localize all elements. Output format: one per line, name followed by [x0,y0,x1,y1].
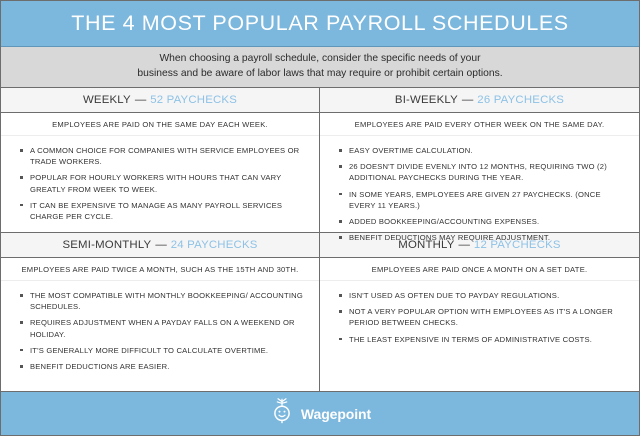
wagepoint-sprout-face-icon [269,397,295,430]
schedule-description-text: EMPLOYEES ARE PAID ONCE A MONTH ON A SET… [372,265,588,274]
schedule-paycheck-count: 24 PAYCHECKS [171,239,258,251]
schedule-name: WEEKLY [83,94,131,106]
schedule-description-weekly: EMPLOYEES ARE PAID ON THE SAME DAY EACH … [1,113,319,136]
list-item: IN SOME YEARS, EMPLOYEES ARE GIVEN 27 PA… [338,189,625,211]
list-item: EASY OVERTIME CALCULATION. [338,145,625,156]
schedule-bullets-semi-monthly: THE MOST COMPATIBLE WITH MONTHLY BOOKKEE… [1,281,319,391]
footer-banner: Wagepoint [1,391,639,435]
subtitle-text: When choosing a payroll schedule, consid… [97,52,542,82]
schedules-grid: WEEKLY — 52 PAYCHECKS EMPLOYEES ARE PAID… [1,88,639,391]
list-item: POPULAR FOR HOURLY WORKERS WITH HOURS TH… [19,172,305,194]
list-item: A COMMON CHOICE FOR COMPANIES WITH SERVI… [19,145,305,167]
schedule-name: BI-WEEKLY [395,94,458,106]
subtitle-banner: When choosing a payroll schedule, consid… [1,47,639,88]
list-item: THE LEAST EXPENSIVE IN TERMS OF ADMINIST… [338,334,625,345]
header-banner: THE 4 MOST POPULAR PAYROLL SCHEDULES [1,1,639,47]
schedule-description-text: EMPLOYEES ARE PAID EVERY OTHER WEEK ON T… [355,120,605,129]
list-item: BENEFIT DEDUCTIONS MAY REQUIRE ADJUSTMEN… [338,232,625,243]
schedule-paycheck-count: 26 PAYCHECKS [477,94,564,106]
list-item: IT'S GENERALLY MORE DIFFICULT TO CALCULA… [19,345,305,356]
list-item: BENEFIT DEDUCTIONS ARE EASIER. [19,361,305,372]
list-item: IT CAN BE EXPENSIVE TO MANAGE AS MANY PA… [19,200,305,222]
page-title: THE 4 MOST POPULAR PAYROLL SCHEDULES [71,13,569,35]
payroll-schedules-infographic: THE 4 MOST POPULAR PAYROLL SCHEDULES Whe… [0,0,640,436]
schedule-bullets-monthly: ISN'T USED AS OFTEN DUE TO PAYDAY REGULA… [320,281,639,391]
list-item: THE MOST COMPATIBLE WITH MONTHLY BOOKKEE… [19,290,305,312]
list-item: NOT A VERY POPULAR OPTION WITH EMPLOYEES… [338,306,625,328]
title-dash: — [155,239,166,251]
schedule-card-bi-weekly: BI-WEEKLY — 26 PAYCHECKS EMPLOYEES ARE P… [320,88,639,233]
list-item: 26 DOESN'T DIVIDE EVENLY INTO 12 MONTHS,… [338,161,625,183]
schedule-title-bi-weekly: BI-WEEKLY — 26 PAYCHECKS [320,88,639,113]
brand-name: Wagepoint [301,406,371,422]
list-item: ADDED BOOKKEEPING/ACCOUNTING EXPENSES. [338,216,625,227]
title-dash: — [135,94,146,106]
schedule-description-bi-weekly: EMPLOYEES ARE PAID EVERY OTHER WEEK ON T… [320,113,639,136]
title-dash: — [462,94,473,106]
schedule-bullets-weekly: A COMMON CHOICE FOR COMPANIES WITH SERVI… [1,136,319,232]
subtitle-line-1: When choosing a payroll schedule, consid… [159,53,480,64]
schedule-card-weekly: WEEKLY — 52 PAYCHECKS EMPLOYEES ARE PAID… [1,88,320,233]
list-item: REQUIRES ADJUSTMENT WHEN A PAYDAY FALLS … [19,317,305,339]
subtitle-line-2: business and be aware of labor laws that… [137,68,502,79]
schedule-card-semi-monthly: SEMI-MONTHLY — 24 PAYCHECKS EMPLOYEES AR… [1,233,320,391]
schedule-title-weekly: WEEKLY — 52 PAYCHECKS [1,88,319,113]
schedule-description-semi-monthly: EMPLOYEES ARE PAID TWICE A MONTH, SUCH A… [1,258,319,281]
list-item: ISN'T USED AS OFTEN DUE TO PAYDAY REGULA… [338,290,625,301]
schedule-title-semi-monthly: SEMI-MONTHLY — 24 PAYCHECKS [1,233,319,258]
schedule-description-text: EMPLOYEES ARE PAID ON THE SAME DAY EACH … [52,120,268,129]
schedule-description-monthly: EMPLOYEES ARE PAID ONCE A MONTH ON A SET… [320,258,639,281]
schedule-paycheck-count: 52 PAYCHECKS [150,94,237,106]
schedule-bullets-bi-weekly: EASY OVERTIME CALCULATION. 26 DOESN'T DI… [320,136,639,232]
schedule-description-text: EMPLOYEES ARE PAID TWICE A MONTH, SUCH A… [21,265,298,274]
schedule-card-monthly: MONTHLY — 12 PAYCHECKS EMPLOYEES ARE PAI… [320,233,639,391]
schedule-name: SEMI-MONTHLY [62,239,151,251]
